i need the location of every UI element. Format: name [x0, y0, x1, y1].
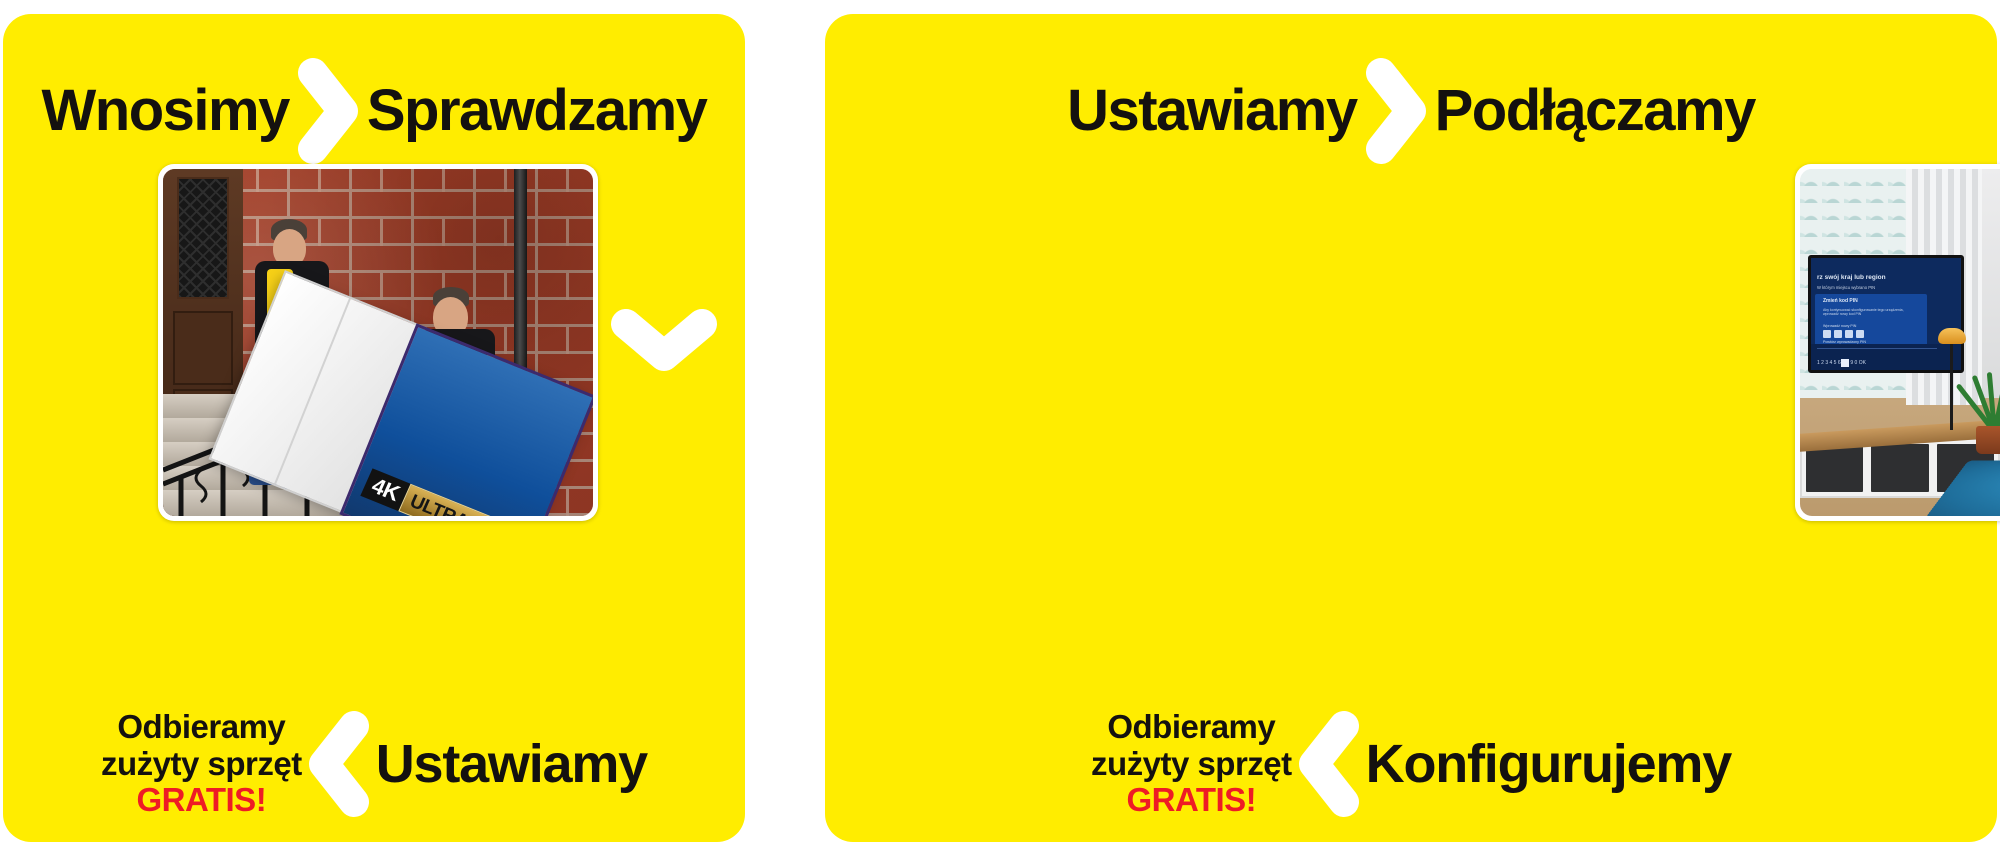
tv-field-label-1: Wprowadź nowy PIN: [1823, 324, 1856, 328]
bottom-row-right: Odbieramy zużyty sprzęt GRATIS! Konfigur…: [825, 708, 1997, 820]
floor-lamp-shade: [1938, 328, 1966, 344]
chevron-down-icon: [608, 306, 720, 376]
step-label-ustawiamy: Ustawiamy: [376, 737, 647, 791]
television-setup-screen: rz swój kraj lub region W którym miejscu…: [1808, 255, 1964, 373]
terracotta-pot: [1976, 426, 2000, 454]
tv-screen-title: rz swój kraj lub region: [1817, 274, 1886, 281]
pickup-line-1: Odbieramy: [1107, 708, 1275, 745]
tv-screen-subtitle: W którym miejscu wybrano PIN: [1817, 285, 1875, 290]
step-label-podlaczamy: Podłączamy: [1435, 82, 1755, 140]
tv-card-text: Aby kontynuować skonfigurowanie tego urz…: [1823, 308, 1919, 316]
chevron-left-icon: [306, 708, 372, 820]
tv-resolution-badge: 4K ULTRA HD: [360, 468, 508, 516]
pickup-free-badge: GRATIS!: [101, 782, 302, 819]
tv-ui: rz swój kraj lub region W którym miejscu…: [1811, 258, 1961, 370]
pickup-note-left: Odbieramy zużyty sprzęt GRATIS!: [101, 709, 302, 820]
pickup-line-1: Odbieramy: [117, 708, 285, 745]
pickup-line-2: zużyty sprzęt: [1091, 745, 1292, 782]
photo-delivery-carrying-tv: 4K ULTRA HD: [158, 164, 598, 521]
tv-card-heading: Zmień kod PIN: [1823, 298, 1858, 304]
step-label-sprawdzamy: Sprawdzamy: [367, 82, 707, 140]
service-step-card-left: Wnosimy Sprawdzamy: [3, 14, 745, 842]
infographic-stage: Wnosimy Sprawdzamy: [0, 0, 2000, 857]
chevron-right-icon: [1363, 55, 1429, 167]
floor-lamp-stand: [1950, 340, 1953, 430]
step-label-ustawiamy-head: Ustawiamy: [1067, 82, 1357, 140]
photo-installer-with-couple: rz swój kraj lub region W którym miejscu…: [1795, 164, 2000, 521]
service-step-card-right: Ustawiamy Podłączamy rz swój kraj lub re…: [825, 14, 1997, 842]
chevron-right-icon: [295, 55, 361, 167]
pickup-note-right: Odbieramy zużyty sprzęt GRATIS!: [1091, 709, 1292, 820]
flow-arrow-down-left: [608, 306, 720, 376]
chevron-left-icon: [1296, 708, 1362, 820]
step-label-wnosimy: Wnosimy: [42, 82, 289, 140]
keypad-divider: [1817, 348, 1937, 349]
bottom-row-left: Odbieramy zużyty sprzęt GRATIS! Ustawiam…: [3, 708, 745, 820]
potted-plant-leaves: [1966, 346, 2000, 432]
tv-onscreen-keypad: 1 2 3 4 5 6 7 8 9 0 OK: [1811, 344, 1961, 370]
headline-row-right: Ustawiamy Podłączamy: [825, 56, 1997, 166]
badge-ultrahd-text: ULTRA HD: [398, 484, 508, 516]
photo-inner-left: 4K ULTRA HD: [163, 169, 593, 516]
headline-row-left: Wnosimy Sprawdzamy: [3, 56, 745, 166]
pickup-line-2: zużyty sprzęt: [101, 745, 302, 782]
door-grille: [177, 177, 229, 299]
step-label-konfigurujemy: Konfigurujemy: [1366, 737, 1731, 791]
keypad-cursor: [1841, 359, 1849, 367]
photo-inner-right: rz swój kraj lub region W którym miejscu…: [1800, 169, 2000, 516]
pickup-free-badge: GRATIS!: [1091, 782, 1292, 819]
pin-dots-1: [1823, 330, 1864, 338]
